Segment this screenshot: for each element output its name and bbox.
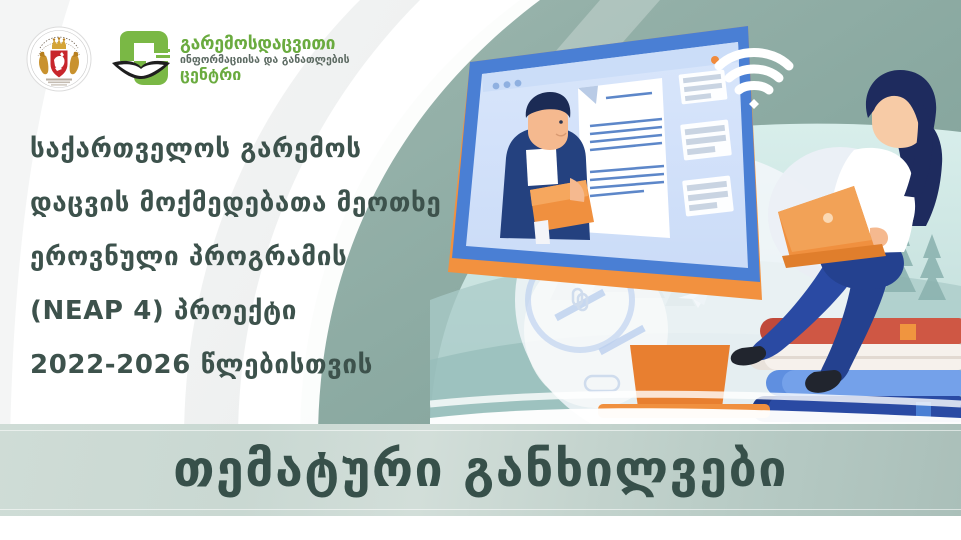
book-lightblue bbox=[766, 370, 961, 396]
eiec-logo: გარემოსდაცვითი ინფორმაციისა და განათლები… bbox=[110, 29, 350, 89]
headline-line-1: საქართველოს გარემოს bbox=[30, 122, 460, 176]
online-learning-illustration bbox=[430, 0, 961, 440]
headline-line-3: ეროვნული პროგრამის bbox=[30, 230, 460, 284]
sidebar-cards bbox=[678, 69, 733, 216]
eiec-logo-line1: გარემოსდაცვითი bbox=[180, 36, 350, 54]
headline-line-5: 2022-2026 წლებისთვის bbox=[30, 338, 460, 392]
open-book-logo-mark bbox=[110, 29, 172, 89]
bottom-banner: თემატური განხილვები bbox=[0, 424, 961, 516]
headline-line-2: დაცვის მოქმედებათა მეოთხე bbox=[30, 176, 460, 230]
headline-line-4: (NEAP 4) პროექტი bbox=[30, 284, 460, 338]
desktop-monitor bbox=[448, 26, 770, 418]
headline-block: საქართველოს გარემოს დაცვის მოქმედებათა მ… bbox=[30, 122, 460, 392]
logo-group: გარემოსდაცვითი ინფორმაციისა და განათლები… bbox=[26, 26, 350, 92]
slide-canvas: გარემოსდაცვითი ინფორმაციისა და განათლები… bbox=[0, 0, 961, 540]
banner-title: თემატური განხილვები bbox=[0, 424, 961, 516]
eiec-logo-line2: ინფორმაციისა და განათლების bbox=[180, 55, 350, 66]
eiec-logo-line3: ცენტრი bbox=[180, 67, 350, 83]
banner-footer-strip bbox=[0, 516, 961, 540]
georgia-coat-of-arms-emblem bbox=[26, 26, 92, 92]
